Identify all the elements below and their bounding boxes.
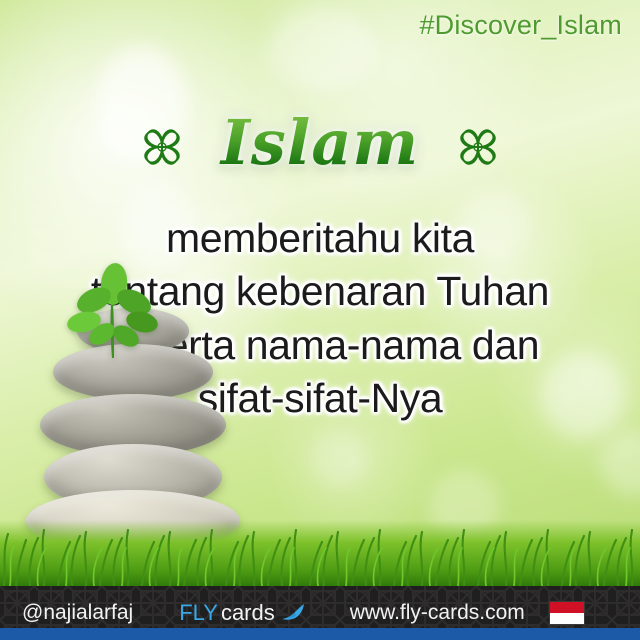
bird-icon <box>280 603 306 623</box>
celtic-knot-ornament-right-icon <box>449 118 507 176</box>
title-row: Islam <box>0 112 640 182</box>
page-title: Islam <box>217 112 423 182</box>
bokeh-circle <box>600 430 640 496</box>
footer-content: @najialarfaj FLY cards www.fly-cards.com <box>0 592 640 634</box>
footer-bar: @najialarfaj FLY cards www.fly-cards.com <box>0 586 640 640</box>
brand-fly-text: FLY <box>179 600 218 626</box>
brand-cards-text: cards <box>221 600 275 626</box>
celtic-knot-ornament-left-icon <box>133 118 191 176</box>
flag-red-band <box>550 602 584 613</box>
twitter-handle[interactable]: @najialarfaj <box>22 601 133 625</box>
bokeh-circle <box>268 8 376 92</box>
islamic-quote-card: #Discover_Islam Islam memberitahu kit <box>0 0 640 640</box>
bokeh-circle <box>310 430 368 488</box>
flag-white-band <box>550 613 584 624</box>
grass-strip <box>0 520 640 586</box>
flycards-logo[interactable]: FLY cards <box>179 600 306 626</box>
message-line: memberitahu kita <box>0 212 640 265</box>
website-url[interactable]: www.fly-cards.com <box>350 601 525 625</box>
plant-sprout-icon <box>52 260 172 360</box>
indonesia-flag-icon <box>549 601 585 625</box>
hashtag-label: #Discover_Islam <box>419 10 622 41</box>
